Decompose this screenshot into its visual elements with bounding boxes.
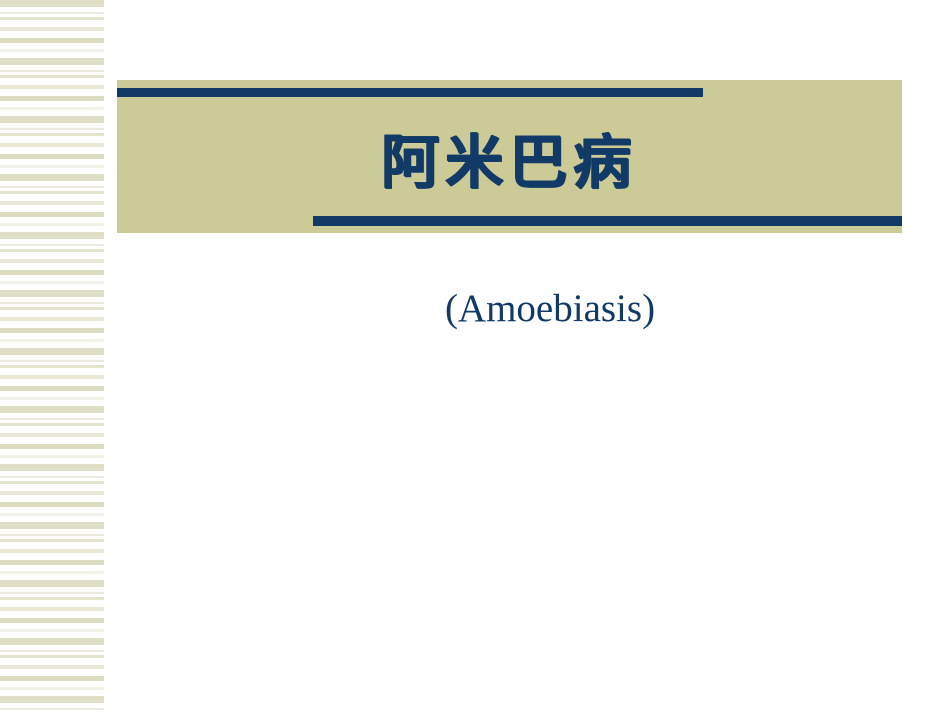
slide-subtitle: (Amoebiasis) xyxy=(117,288,950,331)
banner-rule-top xyxy=(117,88,703,97)
page-title: 阿米巴病 xyxy=(117,117,902,207)
sidebar-stripe-decoration xyxy=(0,0,104,713)
presentation-slide: 阿米巴病 (Amoebiasis) xyxy=(0,0,950,713)
banner-rule-bottom xyxy=(313,216,902,226)
